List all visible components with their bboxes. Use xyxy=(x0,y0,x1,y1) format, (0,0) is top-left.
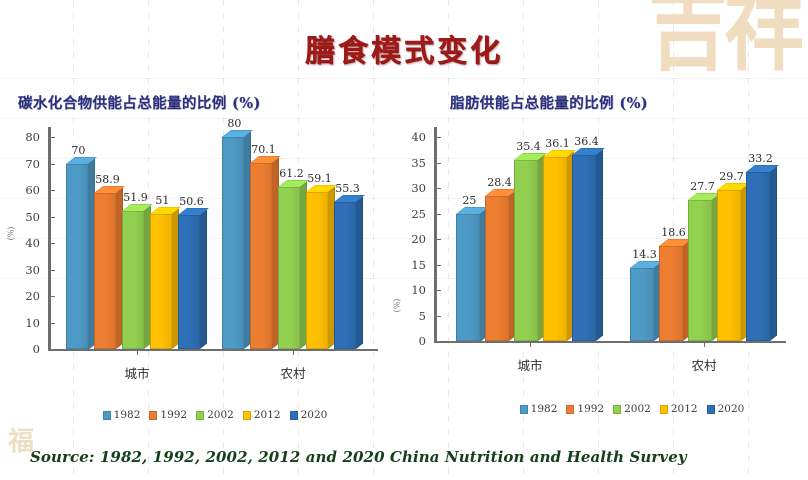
bar-front-face xyxy=(630,268,654,341)
legend-label: 1992 xyxy=(160,409,187,421)
legend-fat: 19821992200220122020 xyxy=(392,403,802,415)
bar-2012-城市: 36.1 xyxy=(543,157,567,341)
y-tick-label: 30 xyxy=(6,263,40,277)
bar-front-face xyxy=(250,163,272,349)
y-tick-label: 15 xyxy=(392,258,426,272)
bar-value-label: 61.2 xyxy=(279,167,304,180)
y-tick-mark xyxy=(436,137,441,138)
bar-side-face xyxy=(596,150,603,341)
y-axis xyxy=(48,127,51,351)
bar-value-label: 55.3 xyxy=(335,182,360,195)
legend-item-1982[interactable]: 1982 xyxy=(520,403,558,415)
bar-1992-城市: 28.4 xyxy=(485,196,509,341)
x-tick-mark xyxy=(530,342,531,347)
bar-value-label: 35.4 xyxy=(516,140,541,153)
y-tick-label: 70 xyxy=(6,157,40,171)
bar-2002-农村: 27.7 xyxy=(688,200,712,341)
bar-value-label: 50.6 xyxy=(179,195,204,208)
y-tick-mark xyxy=(436,214,441,215)
bar-2020-农村: 55.3 xyxy=(334,202,356,349)
bar-1992-农村: 70.1 xyxy=(250,163,272,349)
x-axis xyxy=(48,349,378,351)
bar-2002-城市: 51.9 xyxy=(122,211,144,349)
legend-swatch-icon xyxy=(196,411,204,420)
y-tick-mark xyxy=(436,188,441,189)
bar-value-label: 29.7 xyxy=(719,170,744,183)
bar-2012-农村: 29.7 xyxy=(717,190,741,341)
chart-title-fat: 脂肪供能占总能量的比例 (%) xyxy=(450,92,802,113)
chart-panel-fat: 脂肪供能占总能量的比例 (%) 0510152025303540(%)2528.… xyxy=(392,92,802,422)
bar-value-label: 27.7 xyxy=(690,180,715,193)
bar-front-face xyxy=(485,196,509,341)
legend-swatch-icon xyxy=(520,405,528,414)
y-tick-label: 40 xyxy=(392,130,426,144)
bar-2012-农村: 59.1 xyxy=(306,192,328,349)
legend-swatch-icon xyxy=(613,405,621,414)
legend-swatch-icon xyxy=(149,411,157,420)
bar-side-face xyxy=(770,166,777,341)
y-tick-label: 30 xyxy=(392,181,426,195)
y-tick-label: 20 xyxy=(6,289,40,303)
plot-area-carbohydrate: 01020304050607080(%)7058.951.95150.6城市80… xyxy=(6,127,390,383)
bar-2020-农村: 33.2 xyxy=(746,172,770,341)
x-category-label: 农村 xyxy=(691,355,716,374)
legend-item-1982[interactable]: 1982 xyxy=(103,409,141,421)
legend-label: 2020 xyxy=(718,403,745,415)
x-tick-mark xyxy=(704,342,705,347)
x-category-label: 城市 xyxy=(517,355,542,374)
bar-front-face xyxy=(150,214,172,349)
y-tick-mark xyxy=(50,137,55,138)
bar-front-face xyxy=(746,172,770,341)
bar-value-label: 18.6 xyxy=(661,226,686,239)
y-tick-label: 80 xyxy=(6,130,40,144)
bar-value-label: 51.9 xyxy=(123,191,148,204)
x-tick-mark xyxy=(293,350,294,355)
legend-label: 2002 xyxy=(207,409,234,421)
plot-area-fat: 0510152025303540(%)2528.435.436.136.4城市1… xyxy=(392,127,802,377)
y-tick-mark xyxy=(436,239,441,240)
bar-front-face xyxy=(222,137,244,349)
bar-1982-农村: 14.3 xyxy=(630,268,654,341)
legend-swatch-icon xyxy=(290,411,298,420)
bar-value-label: 28.4 xyxy=(487,176,512,189)
bar-front-face xyxy=(514,160,538,341)
y-tick-mark xyxy=(50,190,55,191)
bar-front-face xyxy=(66,164,88,350)
y-tick-mark xyxy=(50,217,55,218)
bar-front-face xyxy=(717,190,741,341)
legend-label: 2020 xyxy=(301,409,328,421)
y-tick-mark xyxy=(436,265,441,266)
legend-label: 2012 xyxy=(671,403,698,415)
legend-swatch-icon xyxy=(566,405,574,414)
legend-item-2002[interactable]: 2002 xyxy=(196,409,234,421)
legend-item-2012[interactable]: 2012 xyxy=(660,403,698,415)
x-axis xyxy=(434,341,786,343)
source-note: Source: 1982, 1992, 2002, 2012 and 2020 … xyxy=(30,448,687,466)
bar-front-face xyxy=(306,192,328,349)
bar-front-face xyxy=(278,187,300,349)
bar-value-label: 14.3 xyxy=(632,248,657,261)
y-tick-mark xyxy=(436,290,441,291)
page-title: 膳食模式变化 xyxy=(0,26,808,70)
bar-front-face xyxy=(122,211,144,349)
bar-1982-农村: 80 xyxy=(222,137,244,349)
y-tick-label: 10 xyxy=(392,283,426,297)
legend-label: 2002 xyxy=(624,403,651,415)
bar-value-label: 33.2 xyxy=(748,152,773,165)
x-tick-mark xyxy=(137,350,138,355)
bar-value-label: 25 xyxy=(462,194,476,207)
bar-front-face xyxy=(688,200,712,341)
bar-1982-城市: 70 xyxy=(66,164,88,350)
y-tick-mark xyxy=(50,243,55,244)
bar-1992-农村: 18.6 xyxy=(659,246,683,341)
y-tick-label: 35 xyxy=(392,156,426,170)
bar-1982-城市: 25 xyxy=(456,214,480,342)
legend-label: 1992 xyxy=(577,403,604,415)
legend-swatch-icon xyxy=(103,411,111,420)
bar-value-label: 58.9 xyxy=(95,173,120,186)
legend-swatch-icon xyxy=(707,405,715,414)
y-tick-mark xyxy=(436,316,441,317)
bar-2020-城市: 36.4 xyxy=(572,155,596,341)
legend-label: 1982 xyxy=(531,403,558,415)
y-tick-label: 20 xyxy=(392,232,426,246)
legend-swatch-icon xyxy=(243,411,251,420)
legend-item-2012[interactable]: 2012 xyxy=(243,409,281,421)
y-tick-label: 60 xyxy=(6,183,40,197)
x-category-label: 农村 xyxy=(280,363,305,382)
bar-front-face xyxy=(572,155,596,341)
chart-title-carbohydrate: 碳水化合物供能占总能量的比例 (%) xyxy=(18,92,390,113)
y-axis-title: (%) xyxy=(392,299,401,313)
legend-item-1992[interactable]: 1992 xyxy=(149,409,187,421)
y-tick-label: 10 xyxy=(6,316,40,330)
x-category-label: 城市 xyxy=(124,363,149,382)
bar-value-label: 80 xyxy=(227,117,241,130)
y-tick-label: 0 xyxy=(6,342,40,356)
bar-side-face xyxy=(200,209,207,349)
y-tick-label: 25 xyxy=(392,207,426,221)
decorative-seal-small-icon: 福 xyxy=(8,432,32,453)
y-axis xyxy=(434,127,437,343)
y-tick-mark xyxy=(50,296,55,297)
legend-label: 1982 xyxy=(114,409,141,421)
bar-value-label: 36.4 xyxy=(574,135,599,148)
legend-item-1992[interactable]: 1992 xyxy=(566,403,604,415)
bar-value-label: 36.1 xyxy=(545,137,570,150)
y-tick-mark xyxy=(50,323,55,324)
legend-item-2002[interactable]: 2002 xyxy=(613,403,651,415)
bar-2002-城市: 35.4 xyxy=(514,160,538,341)
bar-value-label: 51 xyxy=(155,194,169,207)
bar-2002-农村: 61.2 xyxy=(278,187,300,349)
bar-front-face xyxy=(659,246,683,341)
y-tick-mark xyxy=(436,163,441,164)
legend-label: 2012 xyxy=(254,409,281,421)
y-axis-title: (%) xyxy=(6,227,15,241)
chart-panel-carbohydrate: 碳水化合物供能占总能量的比例 (%) 01020304050607080(%)7… xyxy=(6,92,390,422)
bar-2012-城市: 51 xyxy=(150,214,172,349)
y-tick-mark xyxy=(50,270,55,271)
y-tick-label: 50 xyxy=(6,210,40,224)
legend-item-2020[interactable]: 2020 xyxy=(707,403,745,415)
y-tick-label: 0 xyxy=(392,334,426,348)
legend-item-2020[interactable]: 2020 xyxy=(290,409,328,421)
bar-1992-城市: 58.9 xyxy=(94,193,116,349)
y-tick-mark xyxy=(50,164,55,165)
bar-front-face xyxy=(456,214,480,342)
legend-swatch-icon xyxy=(660,405,668,414)
bar-value-label: 59.1 xyxy=(307,172,332,185)
bar-front-face xyxy=(334,202,356,349)
legend-carbohydrate: 19821992200220122020 xyxy=(6,409,390,421)
bar-front-face xyxy=(178,215,200,349)
bar-front-face xyxy=(94,193,116,349)
bar-value-label: 70 xyxy=(71,144,85,157)
bar-side-face xyxy=(356,197,363,349)
bar-front-face xyxy=(543,157,567,341)
bar-2020-城市: 50.6 xyxy=(178,215,200,349)
bar-value-label: 70.1 xyxy=(251,143,276,156)
